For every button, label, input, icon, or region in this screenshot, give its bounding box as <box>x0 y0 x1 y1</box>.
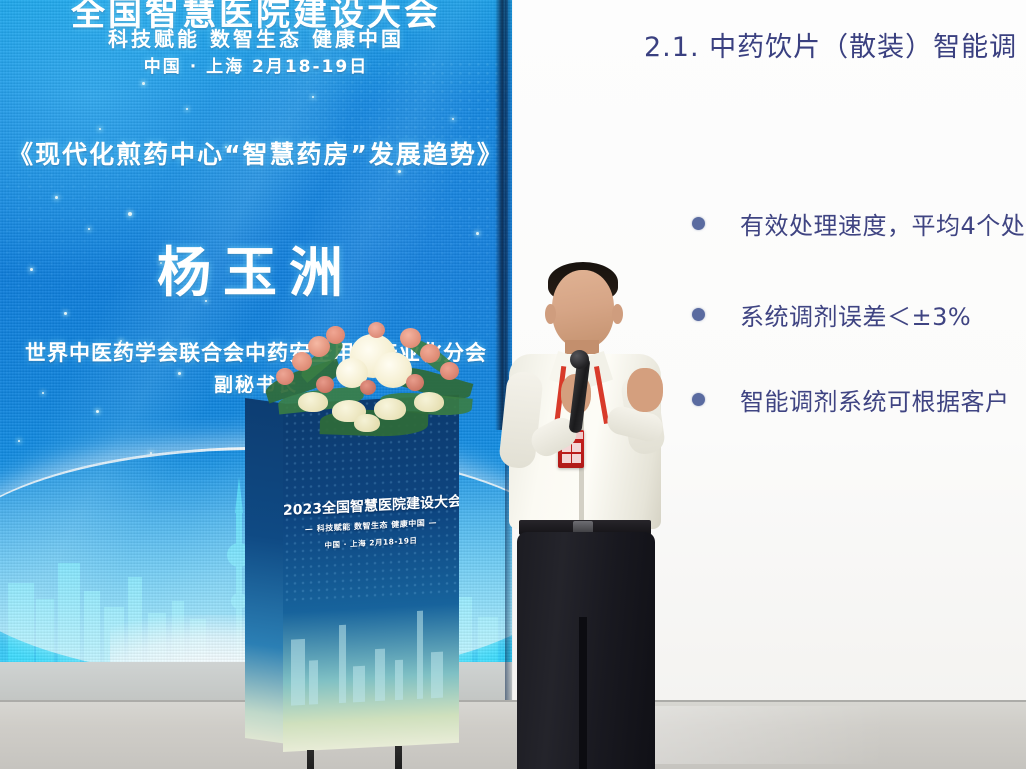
led-light-beams <box>0 0 512 700</box>
led-main-title: 全国智慧医院建设大会 <box>0 0 512 35</box>
slide-bullet-item: 有效处理速度，平均4个处 <box>692 206 1025 241</box>
led-scanline-texture <box>0 0 512 700</box>
slide-bullet-item: 系统调剂误差＜±3% <box>692 297 971 332</box>
bullet-dot-icon <box>692 308 705 321</box>
sparkle-particle <box>312 96 314 98</box>
slide-bullet-text: 系统调剂误差＜±3% <box>740 297 971 332</box>
led-panel-edge <box>505 0 513 700</box>
led-presentation-topic: 《现代化煎药中心“智慧药房”发展趋势》 <box>0 135 512 171</box>
slide-bullet-text: 有效处理速度，平均4个处 <box>740 206 1025 241</box>
led-backdrop-screen: 全国智慧医院建设大会 科技赋能 数智生态 健康中国 中国 · 上海 2月18-1… <box>0 0 512 700</box>
sparkle-particle <box>96 410 99 413</box>
sparkle-particle <box>64 312 67 315</box>
sparkle-particle <box>88 228 90 230</box>
bullet-dot-icon <box>692 393 705 406</box>
slide-bullet-item: 智能调剂系统可根据客户 <box>692 382 1010 417</box>
sparkle-particle <box>128 212 132 216</box>
sparkle-particle <box>186 108 188 110</box>
stage-floor-sheen <box>560 706 1026 764</box>
led-speaker-role: 副秘书长 <box>0 370 512 397</box>
led-data-grid-texture <box>222 60 512 390</box>
sparkle-particle <box>205 300 207 302</box>
sparkle-particle <box>120 340 122 342</box>
led-pixel-texture <box>0 0 512 700</box>
slide-title: 2.1. 中药饮片（散装）智能调 <box>644 25 1017 64</box>
sparkle-particle <box>160 262 162 264</box>
shanghai-skyline-silhouette <box>0 451 512 666</box>
sparkle-particle <box>178 372 181 375</box>
led-speaker-name: 杨玉洲 <box>0 228 512 307</box>
led-data-grid-texture <box>0 170 210 470</box>
sparkle-particle <box>258 254 260 256</box>
sparkle-particle <box>99 128 101 130</box>
sparkle-particle <box>452 118 454 120</box>
led-screen-bottom-frame <box>0 662 512 700</box>
bullet-dot-icon <box>692 217 705 230</box>
sparkle-particle <box>476 232 479 235</box>
slide-bullet-text: 智能调剂系统可根据客户 <box>740 382 1010 417</box>
stage-floor-edge <box>0 700 1026 702</box>
sparkle-particle <box>55 196 58 199</box>
led-glow-arc <box>0 447 512 680</box>
sparkle-particle <box>42 392 44 394</box>
led-subtitle-slogan: 科技赋能 数智生态 健康中国 <box>0 23 512 52</box>
slide-content: 2.1. 中药饮片（散装）智能调 有效处理速度，平均4个处 系统调剂误差＜±3%… <box>512 0 1026 700</box>
sparkle-particle <box>398 170 401 173</box>
led-speaker-organization: 世界中医药学会联合会中药安全用药产业化分会 <box>0 337 512 367</box>
sparkle-particle <box>225 146 227 148</box>
presentation-stage-photo: 2.1. 中药饮片（散装）智能调 有效处理速度，平均4个处 系统调剂误差＜±3%… <box>0 0 1026 769</box>
sparkle-particle <box>150 452 152 454</box>
sparkle-particle <box>18 440 20 442</box>
sparkle-particle <box>30 268 33 271</box>
led-subtitle-location-date: 中国 · 上海 2月18-19日 <box>0 52 512 77</box>
sparkle-particle <box>142 82 145 85</box>
